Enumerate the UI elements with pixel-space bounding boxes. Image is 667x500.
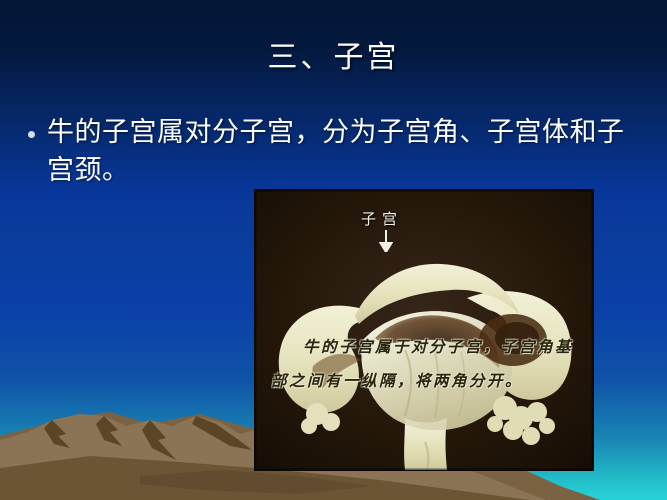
photo-annotation-label: 子宫	[361, 208, 403, 229]
slide-body: 牛的子宫属对分子宫，分为子宫角、子宫体和子宫颈。	[28, 114, 628, 190]
bullet-marker-icon	[28, 131, 35, 138]
slide-title: 三、子宫	[0, 38, 667, 78]
presentation-slide: 三、子宫 牛的子宫属对分子宫，分为子宫角、子宫体和子宫颈。	[0, 0, 667, 500]
photo-caption-text: 牛的子宫属于对分子宫，子宫角基部之间有一纵隔，将两角分开。	[271, 330, 581, 398]
bullet-item-text: 牛的子宫属对分子宫，分为子宫角、子宫体和子宫颈。	[47, 114, 628, 190]
uterus-specimen-photo: 子宫 牛的子宫属于对分子宫，子宫角基部之间有一纵隔，将两角分开。	[255, 190, 593, 470]
down-arrow-icon	[379, 230, 393, 252]
